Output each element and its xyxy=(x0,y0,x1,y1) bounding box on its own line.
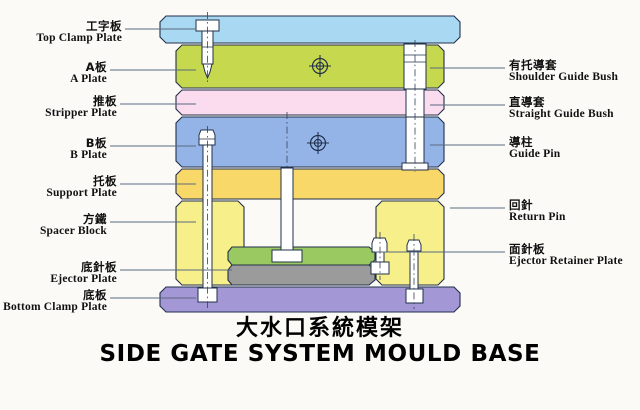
plate-ejector-plate xyxy=(228,265,375,285)
label-a-plate-cn: A板 xyxy=(0,61,107,73)
label-top-clamp-plate-en: Top Clamp Plate xyxy=(0,32,122,44)
label-return-pin-en: Return Pin xyxy=(509,211,566,223)
label-return-pin: 回針 Return Pin xyxy=(509,199,566,224)
label-shoulder-guide-bush-cn: 有托導套 xyxy=(509,59,618,71)
label-bottom-clamp-plate: 底板 Bottom Clamp Plate xyxy=(0,289,107,314)
label-stripper-plate-en: Stripper Plate xyxy=(0,107,117,119)
label-top-clamp-plate: 工字板 Top Clamp Plate xyxy=(0,20,122,45)
mould-base-diagram: .pl{stroke:#22304a;stroke-width:1.1;} .s… xyxy=(0,0,640,410)
label-bottom-clamp-plate-cn: 底板 xyxy=(0,289,107,301)
label-support-plate: 托板 Support Plate xyxy=(0,175,117,200)
label-stripper-plate-cn: 推板 xyxy=(0,95,117,107)
diagram-title-chinese: 大水口系統模架 xyxy=(0,316,640,341)
label-spacer-block-en: Spacer Block xyxy=(0,225,107,237)
label-ejector-retainer-plate-en: Ejector Retainer Plate xyxy=(509,255,623,267)
label-straight-guide-bush: 直導套 Straight Guide Bush xyxy=(509,96,614,121)
label-shoulder-guide-bush-en: Shoulder Guide Bush xyxy=(509,71,618,83)
label-a-plate-en: A Plate xyxy=(0,73,107,85)
label-guide-pin-cn: 導柱 xyxy=(509,136,560,148)
center-ejector-collar xyxy=(272,250,302,262)
diagram-title-english: SIDE GATE SYSTEM MOULD BASE xyxy=(0,341,640,367)
label-support-plate-cn: 托板 xyxy=(0,175,117,187)
label-top-clamp-plate-cn: 工字板 xyxy=(0,20,122,32)
label-stripper-plate: 推板 Stripper Plate xyxy=(0,95,117,120)
label-b-plate-cn: B板 xyxy=(0,137,107,149)
label-support-plate-en: Support Plate xyxy=(0,187,117,199)
label-ejector-retainer-plate-cn: 面針板 xyxy=(509,243,623,255)
label-a-plate: A板 A Plate xyxy=(0,61,107,86)
label-ejector-plate: 底針板 Ejector Plate xyxy=(0,261,117,286)
label-spacer-block-cn: 方鐵 xyxy=(0,213,107,225)
label-ejector-retainer-plate: 面針板 Ejector Retainer Plate xyxy=(509,243,623,268)
label-shoulder-guide-bush: 有托導套 Shoulder Guide Bush xyxy=(509,59,618,84)
label-ejector-plate-cn: 底針板 xyxy=(0,261,117,273)
label-straight-guide-bush-en: Straight Guide Bush xyxy=(509,108,614,120)
guide-pin-head xyxy=(402,163,428,170)
label-straight-guide-bush-cn: 直導套 xyxy=(509,96,614,108)
label-ejector-plate-en: Ejector Plate xyxy=(0,273,117,285)
label-b-plate: B板 B Plate xyxy=(0,137,107,162)
label-guide-pin: 導柱 Guide Pin xyxy=(509,136,560,161)
diagram-title: 大水口系統模架 SIDE GATE SYSTEM MOULD BASE xyxy=(0,316,640,368)
plate-stripper-plate xyxy=(176,90,444,115)
plate-support-plate xyxy=(176,169,444,199)
label-return-pin-cn: 回針 xyxy=(509,199,566,211)
center-ejector-sleeve xyxy=(281,168,293,250)
bottom-screw-foot xyxy=(406,289,423,303)
label-spacer-block: 方鐵 Spacer Block xyxy=(0,213,107,238)
ejector-pin-head xyxy=(199,130,215,145)
label-bottom-clamp-plate-en: Bottom Clamp Plate xyxy=(0,301,107,313)
return-pin-head xyxy=(372,238,387,252)
label-guide-pin-en: Guide Pin xyxy=(509,148,560,160)
label-b-plate-en: B Plate xyxy=(0,149,107,161)
